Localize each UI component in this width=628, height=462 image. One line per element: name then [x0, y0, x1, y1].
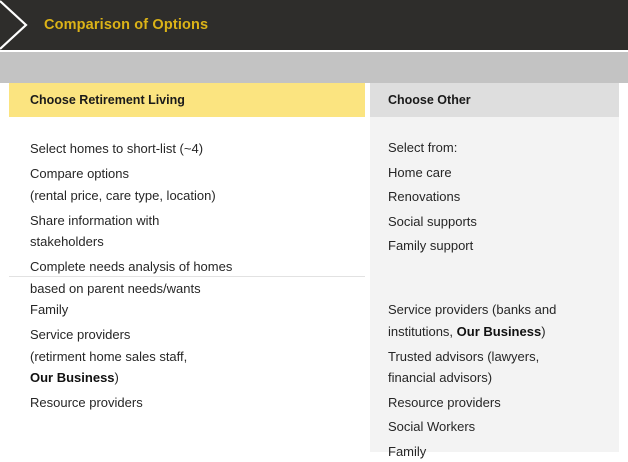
cell-content: Select homes to short-list (~4) Compare … — [30, 117, 355, 299]
divider-band — [0, 52, 628, 83]
column-header-label: Choose Other — [388, 83, 471, 117]
table-column-other: Choose Other Select from: Home care Reno… — [370, 83, 619, 452]
cell-content: Service providers (banks and institution… — [388, 277, 609, 462]
comparison-table: Choose Retirement Living Select homes to… — [0, 83, 628, 452]
column-body-other: Select from: Home care Renovations Socia… — [370, 117, 619, 452]
table-column-retirement-living: Choose Retirement Living Select homes to… — [9, 83, 365, 452]
list-item: Service providers (banks and institution… — [388, 299, 609, 342]
page-title: Comparison of Options — [44, 0, 208, 50]
list-item: Share information with stakeholders — [30, 210, 355, 253]
column-header-retirement-living: Choose Retirement Living — [9, 83, 365, 117]
list-item-text-tail: ) — [541, 324, 545, 339]
list-item: Service providers (retirment home sales … — [30, 324, 355, 389]
list-item-text: Service providers (retirment home sales … — [30, 327, 187, 364]
table-cell-retirement-living-steps: Select homes to short-list (~4) Compare … — [9, 117, 365, 277]
list-item: Family support — [388, 235, 609, 257]
list-item: Resource providers — [388, 392, 609, 414]
list-item: Renovations — [388, 186, 609, 208]
list-item: Select from: — [388, 137, 609, 159]
chevron-right-icon — [0, 0, 44, 50]
list-item: Family — [30, 299, 355, 321]
list-item: Family — [388, 441, 609, 462]
column-header-other: Choose Other — [370, 83, 619, 117]
list-item: Social Workers — [388, 416, 609, 438]
emphasis-our-business: Our Business — [30, 370, 115, 385]
list-item: Trusted advisors (lawyers, financial adv… — [388, 346, 609, 389]
cell-content: Select from: Home care Renovations Socia… — [388, 117, 609, 257]
column-body-retirement-living: Select homes to short-list (~4) Compare … — [9, 117, 365, 452]
slide-title-bar: Comparison of Options — [0, 0, 628, 50]
table-cell-other-options: Select from: Home care Renovations Socia… — [370, 117, 619, 277]
list-item: Resource providers — [30, 392, 355, 414]
cell-content: Family Service providers (retirment home… — [30, 277, 355, 414]
list-item: Home care — [388, 162, 609, 184]
table-cell-retirement-living-people: Family Service providers (retirment home… — [9, 277, 365, 452]
column-header-label: Choose Retirement Living — [30, 83, 185, 117]
list-item: Select homes to short-list (~4) — [30, 138, 355, 160]
table-cell-other-people: Service providers (banks and institution… — [370, 277, 619, 452]
list-item: Social supports — [388, 211, 609, 233]
list-item-text-tail: ) — [115, 370, 119, 385]
emphasis-our-business: Our Business — [457, 324, 542, 339]
list-item: Compare options (rental price, care type… — [30, 163, 355, 206]
